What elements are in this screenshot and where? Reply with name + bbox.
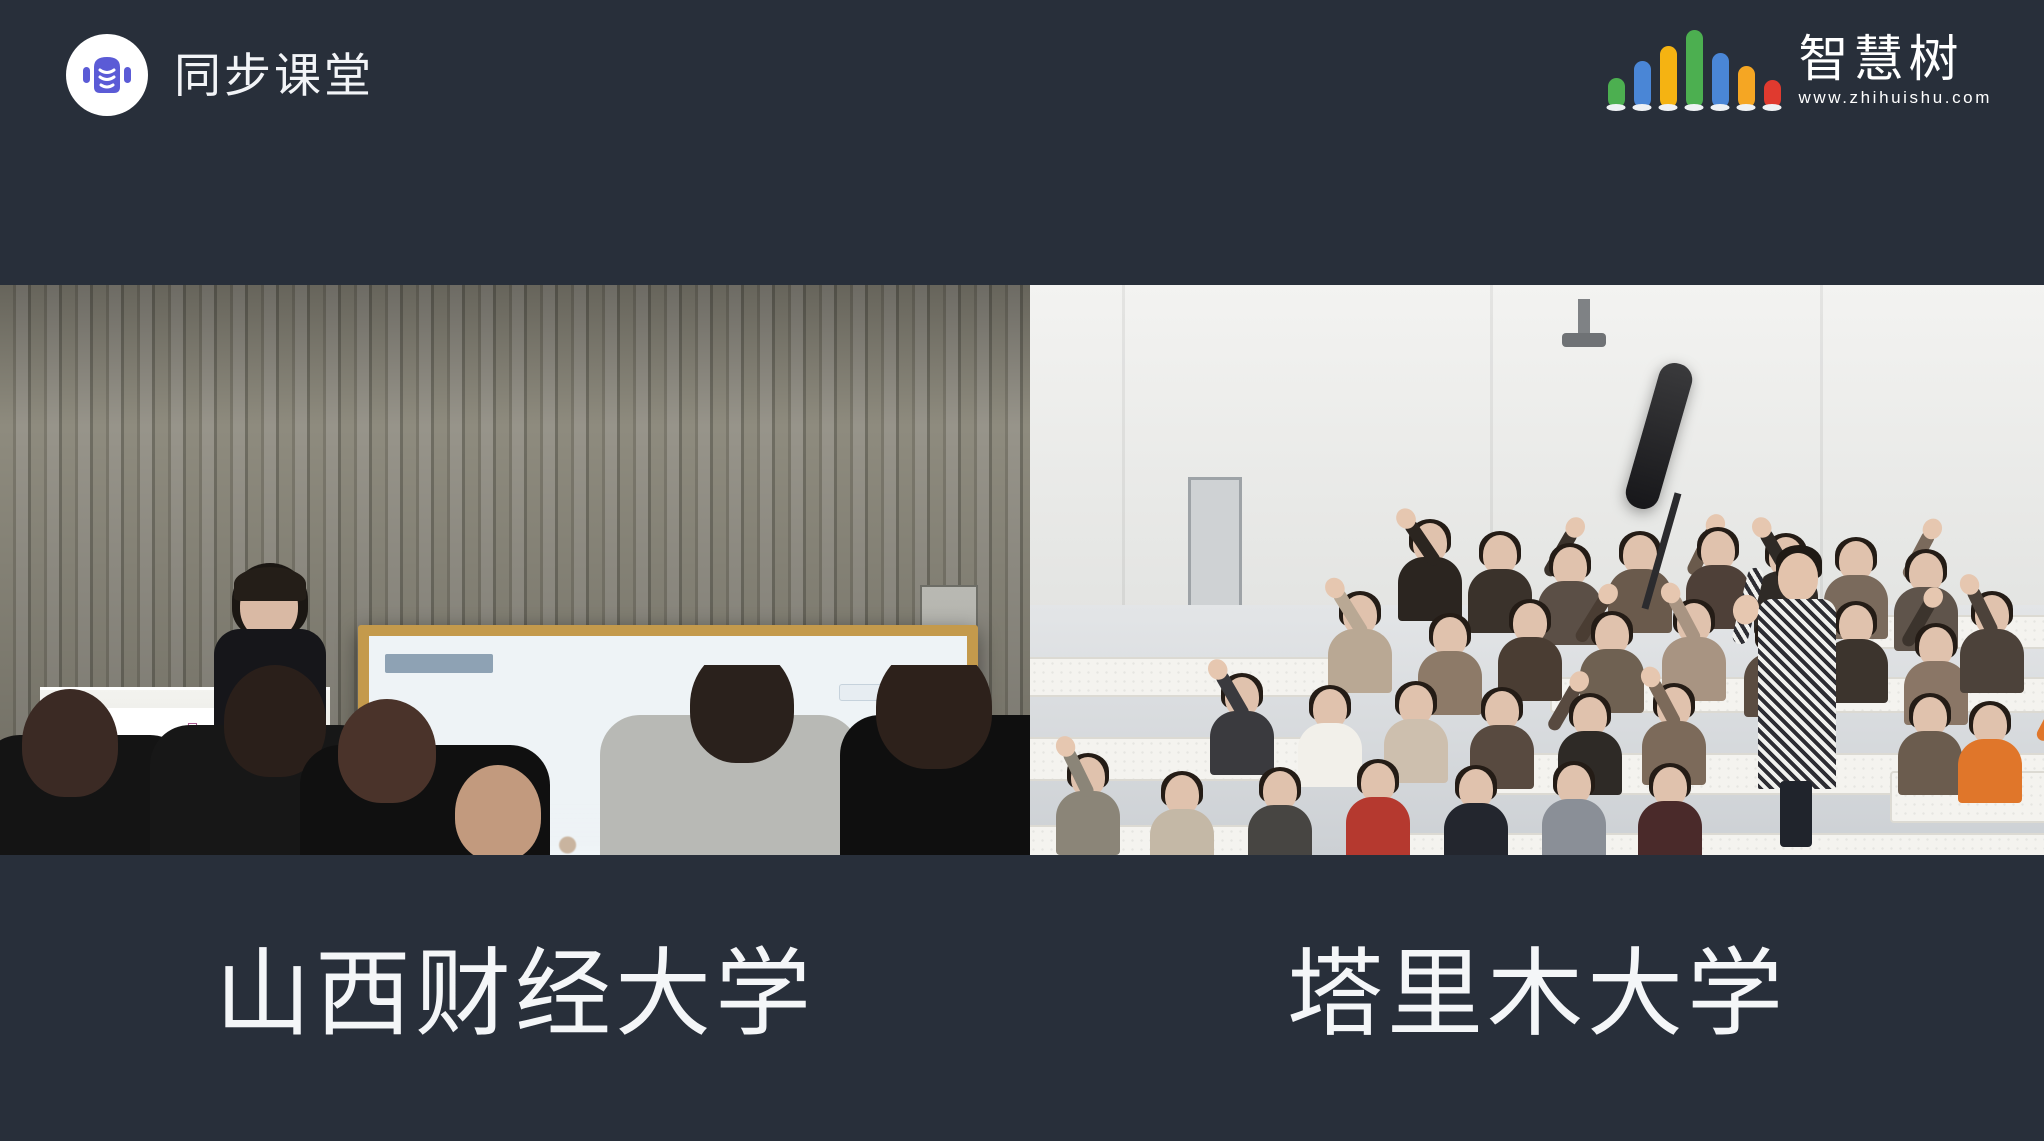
video-pane-left[interactable]: 山西财经大学 同步课堂 塔里木大学 <box>0 285 1030 855</box>
site-label-left-cell: 山西财经大学 <box>0 855 1030 1141</box>
eq-bar-6 <box>1738 30 1755 108</box>
site-labels-bar: 山西财经大学 塔里木大学 <box>0 855 2044 1141</box>
eq-bar-3 <box>1660 30 1677 108</box>
app-root: 同步课堂 <box>0 0 2044 1141</box>
classroom-wall <box>1030 285 2044 615</box>
foreground-audience <box>0 665 1030 855</box>
brand-title: 同步课堂 <box>174 52 374 99</box>
sync-classroom-robot-icon <box>66 34 148 116</box>
lecture-hall-scene: 山西财经大学 同步课堂 塔里木大学 <box>0 285 1030 855</box>
site-label-left: 山西财经大学 <box>215 947 815 1049</box>
ceiling-lamp <box>1578 299 1590 339</box>
student-with-microphone <box>1740 519 1848 849</box>
site-label-right-cell: 塔里木大学 <box>1030 855 2044 1141</box>
partner-url: www.zhihuishu.com <box>1799 88 1992 108</box>
partner-logo-group: 智慧树 www.zhihuishu.com <box>1608 32 1992 110</box>
brand-left-group: 同步课堂 <box>66 34 374 116</box>
header-bar: 同步课堂 <box>0 0 2044 285</box>
eq-bar-2 <box>1634 30 1651 108</box>
eq-bar-1 <box>1608 30 1625 108</box>
eq-bar-5 <box>1712 30 1729 108</box>
dual-video-strip: 山西财经大学 同步课堂 塔里木大学 <box>0 285 2044 855</box>
partner-name: 智慧树 <box>1799 34 1964 85</box>
site-label-right: 塔里木大学 <box>1287 947 1787 1049</box>
video-pane-right[interactable] <box>1030 285 2044 855</box>
eq-bar-7 <box>1764 30 1781 108</box>
eq-bar-4 <box>1686 30 1703 108</box>
classroom-scene <box>1030 285 2044 855</box>
desk-row <box>1030 657 1340 697</box>
zhihuishu-equalizer-logo <box>1608 32 1781 110</box>
partner-wordmark: 智慧树 www.zhihuishu.com <box>1799 34 1992 110</box>
